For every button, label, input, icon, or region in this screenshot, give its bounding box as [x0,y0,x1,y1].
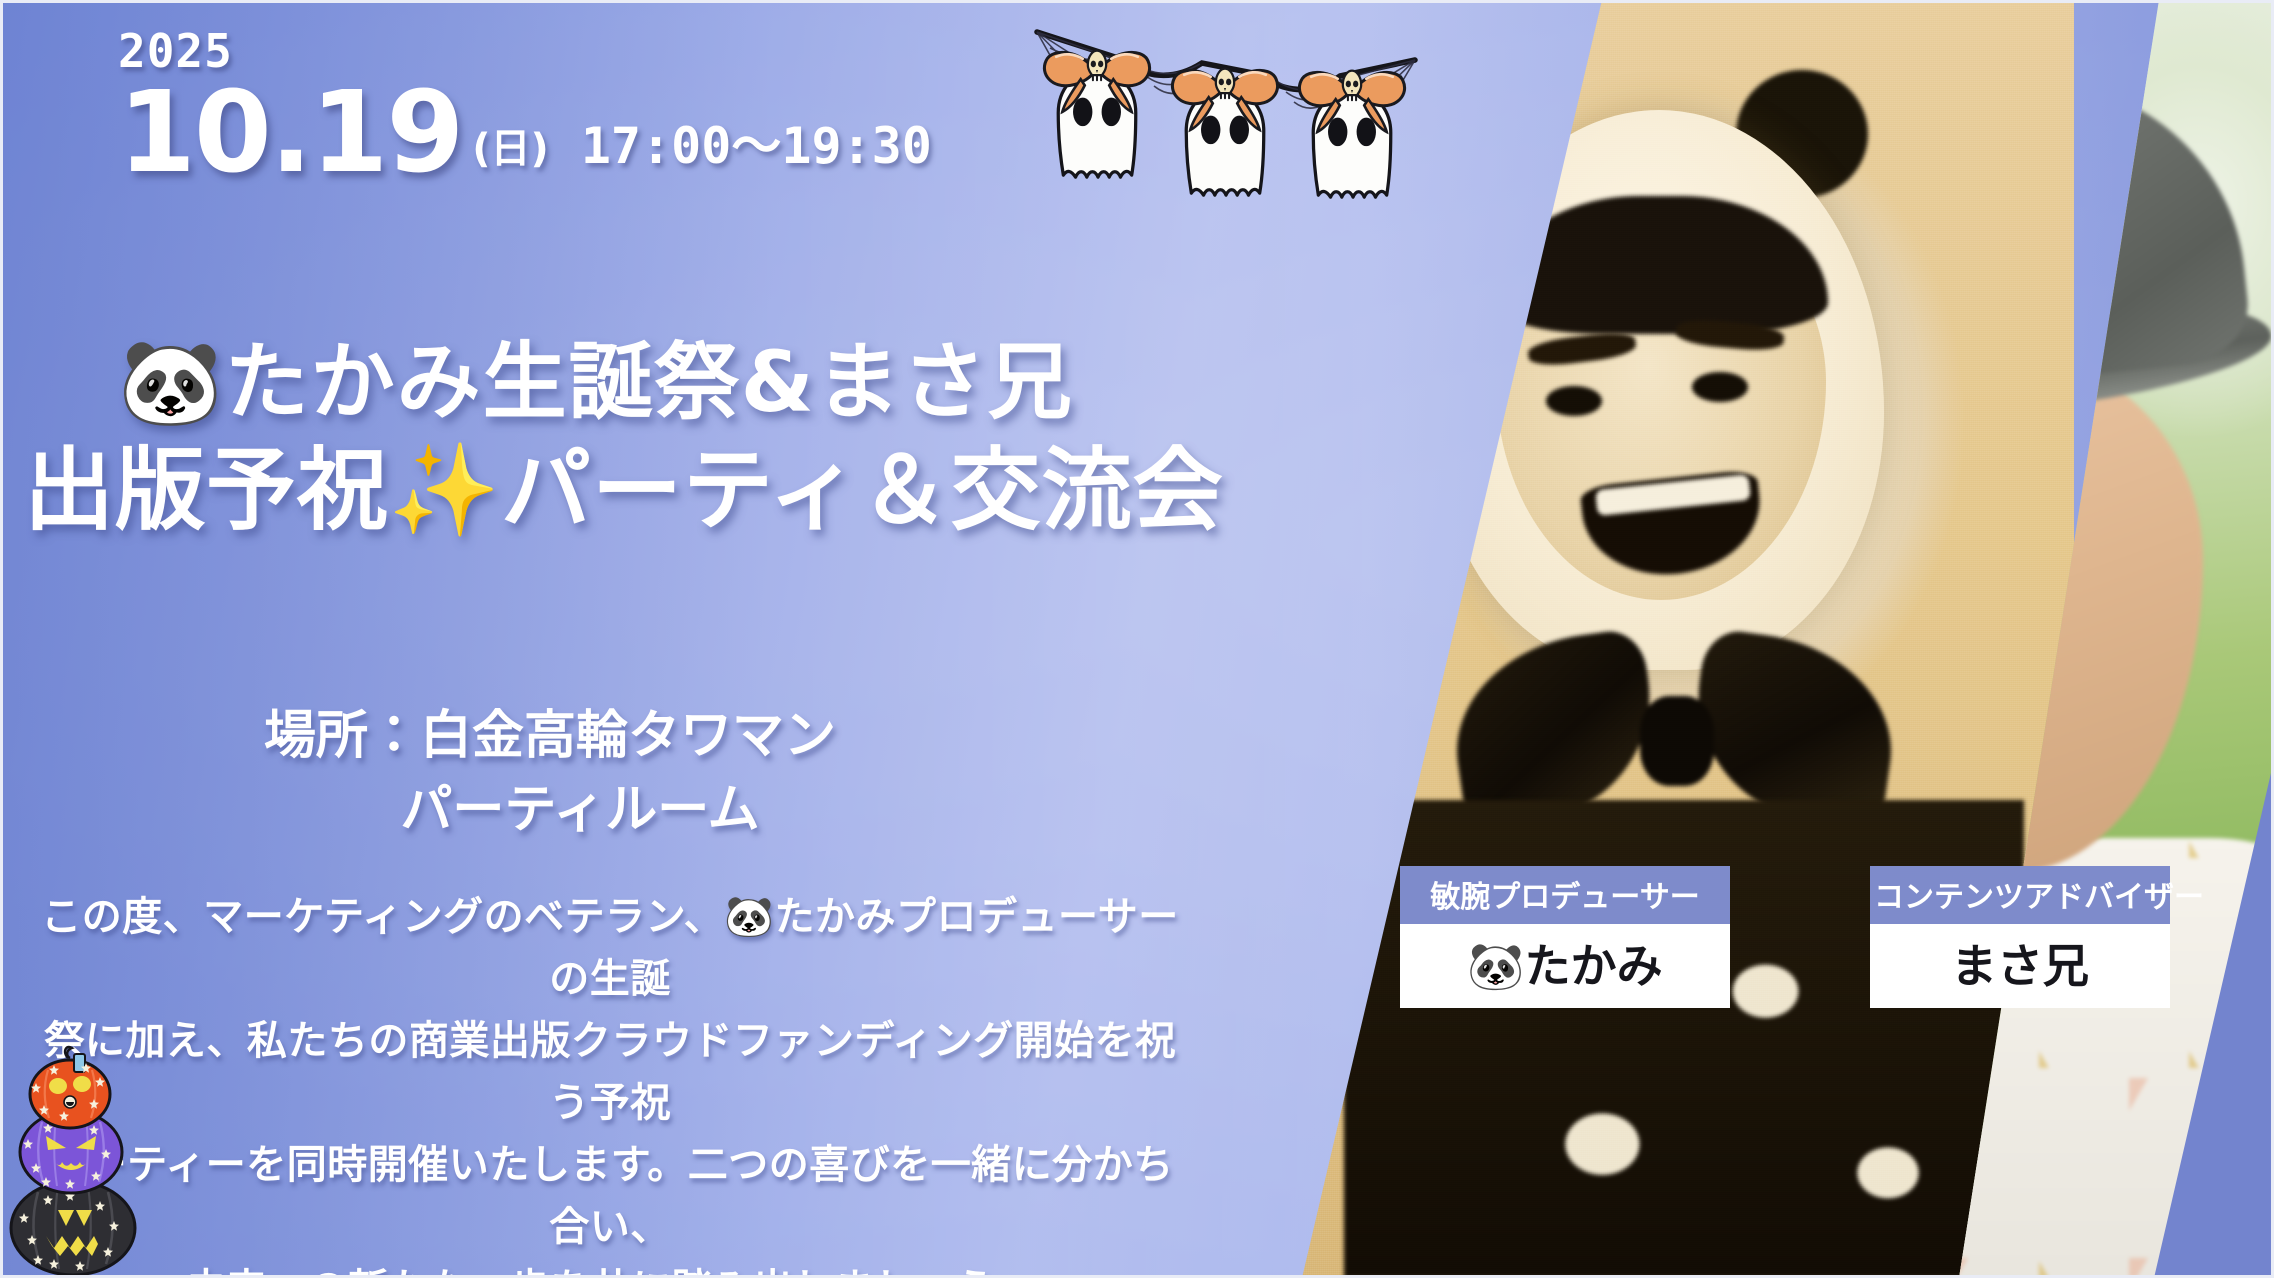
description-block: この度、マーケティングのベテラン、🐼たかみプロデューサーの生誕 祭に加え、私たち… [30,886,1190,1278]
venue-line-2: パーティルーム [0,774,1100,848]
event-title: 🐼たかみ生誕祭&まさ兄 出版予祝✨パーティ＆交流会 [0,330,1360,548]
caption-masa: コンテンツアドバイザー まさ兄 [1870,866,2170,1008]
description-line: 祭に加え、私たちの商業出版クラウドファンディング開始を祝う予祝 [30,1010,1190,1134]
caption-takami: 敏腕プロデューサー 🐼たかみ [1400,866,1730,1008]
description-line: 未来への新たな一歩を共に踏み出しましょう。 [30,1258,1190,1278]
description-line: この度、マーケティングのベテラン、🐼たかみプロデューサーの生誕 [30,886,1190,1010]
date-block: 2025 10.19 (日) 17:00〜19:30 [118,24,932,186]
caption-name: まさ兄 [1870,924,2170,1008]
title-line-2: 出版予祝✨パーティ＆交流会 [0,435,1360,548]
ghost-garland-icon [1000,8,1450,208]
event-date: 10.19 [118,80,462,186]
caption-role: 敏腕プロデューサー [1400,866,1730,924]
date-row: 10.19 (日) 17:00〜19:30 [118,80,932,186]
pumpkin-stack-icon [8,1036,138,1278]
caption-role: コンテンツアドバイザー [1870,866,2170,924]
event-day-of-week: (日) [472,116,549,186]
venue-line-1: 場所：白金高輪タワマン [0,700,1100,774]
title-line-1: 🐼たかみ生誕祭&まさ兄 [0,330,1360,435]
description-line: パーティーを同時開催いたします。二つの喜びを一緒に分かち合い、 [30,1134,1190,1258]
event-flyer: 2025 10.19 (日) 17:00〜19:30 [0,0,2274,1278]
caption-name: 🐼たかみ [1400,924,1730,1008]
venue-block: 場所：白金高輪タワマン パーティルーム [0,700,1100,848]
event-time: 17:00〜19:30 [581,106,932,186]
